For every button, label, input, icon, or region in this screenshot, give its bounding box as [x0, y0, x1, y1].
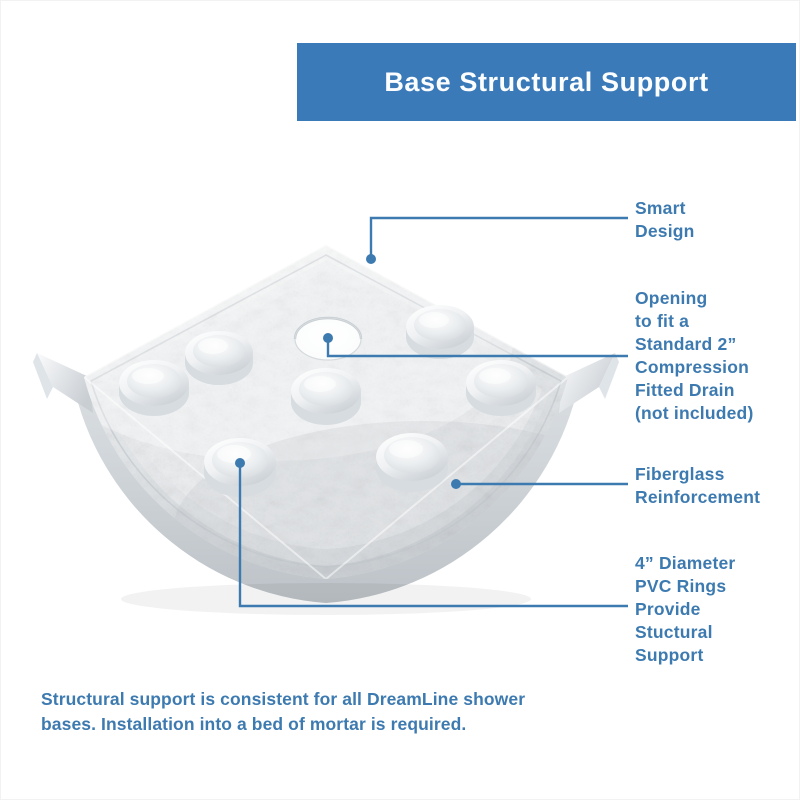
leader-dot-pvc-rings	[235, 458, 245, 468]
infographic-canvas: Base Structural Support	[0, 0, 800, 800]
leader-dot-smart-design	[366, 254, 376, 264]
leader-line-drain-opening	[328, 338, 628, 356]
callout-pvc-rings: 4” Diameter PVC Rings Provide Stuctural …	[635, 552, 735, 667]
leader-line-smart-design	[371, 218, 628, 259]
callout-drain-opening: Opening to fit a Standard 2” Compression…	[635, 287, 753, 426]
bottom-caption: Structural support is consistent for all…	[41, 687, 571, 737]
leader-dot-drain-opening	[323, 333, 333, 343]
callout-smart-design: Smart Design	[635, 197, 695, 243]
leader-dot-fiberglass	[451, 479, 461, 489]
callout-fiberglass-reinforcement: Fiberglass Reinforcement	[635, 463, 760, 509]
